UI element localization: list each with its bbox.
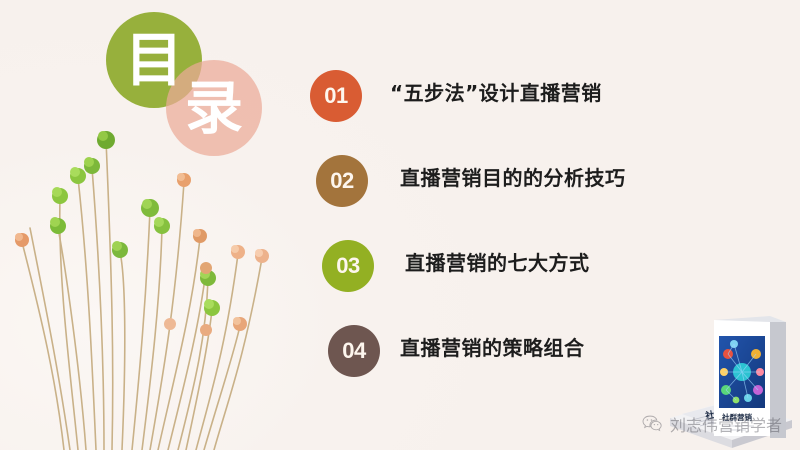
agenda-item-04[interactable]: 04 直播营销的策略组合 xyxy=(300,317,730,402)
agenda-number-badge-03: 03 xyxy=(322,240,374,292)
slide-canvas: 目 录 01 “五步法”设计直播营销 02 直播营销目的的分析技巧 03 直播营… xyxy=(0,0,800,450)
agenda-label-03: 直播营销的七大方式 xyxy=(405,247,590,276)
agenda-list: 01 “五步法”设计直播营销 02 直播营销目的的分析技巧 03 直播营销的七大… xyxy=(300,62,730,402)
agenda-item-01[interactable]: 01 “五步法”设计直播营销 xyxy=(300,62,730,147)
title-mulu-group: 目 录 xyxy=(100,12,280,162)
agenda-item-03[interactable]: 03 直播营销的七大方式 xyxy=(300,232,730,317)
agenda-number-badge-01: 01 xyxy=(310,70,362,122)
agenda-item-02[interactable]: 02 直播营销目的的分析技巧 xyxy=(300,147,730,232)
agenda-number-badge-02: 02 xyxy=(316,155,368,207)
dried-flowers-illustration xyxy=(0,120,300,450)
watermark: 刘志伟营销学者 xyxy=(641,412,782,436)
title-char-lu: 录 xyxy=(166,60,262,156)
agenda-label-01: “五步法”设计直播营销 xyxy=(390,77,602,106)
agenda-number-badge-04: 04 xyxy=(328,325,380,377)
watermark-text: 刘志伟营销学者 xyxy=(670,412,782,436)
agenda-label-02: 直播营销目的的分析技巧 xyxy=(400,162,626,191)
agenda-label-04: 直播营销的策略组合 xyxy=(400,332,585,361)
wechat-icon xyxy=(641,413,663,435)
